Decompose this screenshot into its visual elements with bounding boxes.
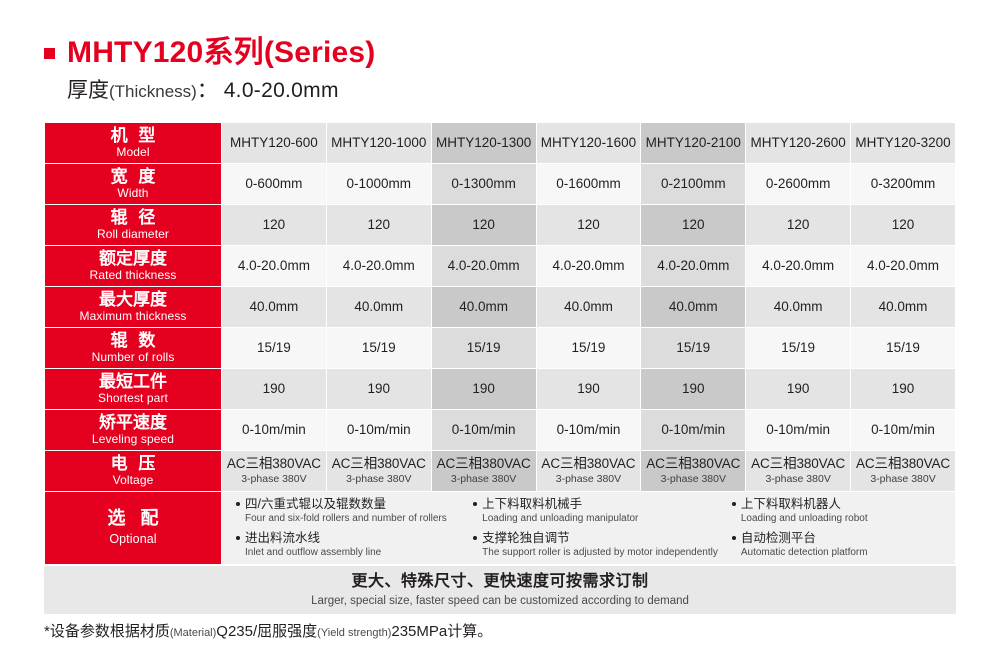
row-label-optional: 选 配 Optional xyxy=(45,492,221,564)
voltage-value-cn: AC三相380VAC xyxy=(746,456,850,473)
bullet-dot-icon xyxy=(236,536,240,540)
subtitle-label-cn: 厚度 xyxy=(67,79,109,102)
footnote: *设备参数根据材质(Material)Q235/屈服强度(Yield stren… xyxy=(44,622,492,642)
cell-rated-thickness-c1: 4.0-20.0mm xyxy=(327,246,431,286)
banner-text-en: Larger, special size, faster speed can b… xyxy=(311,595,689,609)
row-label-leveling-speed: 矫平速度 Leveling speed xyxy=(45,410,221,450)
cell-max-thickness-c0: 40.0mm xyxy=(222,287,326,327)
subtitle-label-en: (Thickness) xyxy=(109,82,197,101)
title-block: MHTY120系列(Series) 厚度(Thickness)： 4.0-20.… xyxy=(44,36,376,103)
cell-voltage-c2: AC三相380VAC 3-phase 380V xyxy=(432,451,536,491)
optional-item: 自动检测平台 Automatic detection platform xyxy=(732,531,955,559)
cell-number-of-rolls-c0: 15/19 xyxy=(222,328,326,368)
table-row: 机 型 Model MHTY120-600 MHTY120-1000 MHTY1… xyxy=(45,123,955,163)
subtitle-separator: ： xyxy=(197,79,218,102)
row-label-max-thickness: 最大厚度 Maximum thickness xyxy=(45,287,221,327)
cell-voltage-c6: AC三相380VAC 3-phase 380V xyxy=(851,451,955,491)
row-label-number-of-rolls: 辊 数 Number of rolls xyxy=(45,328,221,368)
row-label-cn: 电 压 xyxy=(45,455,221,473)
row-label-en: Model xyxy=(45,146,221,159)
optional-item-en: The support roller is adjusted by motor … xyxy=(482,547,718,560)
table-row: 最短工件 Shortest part 190 190 190 190 190 1… xyxy=(45,369,955,409)
cell-width-c0: 0-600mm xyxy=(222,164,326,204)
optional-item-en: Automatic detection platform xyxy=(741,547,955,560)
cell-leveling-speed-c3: 0-10m/min xyxy=(537,410,641,450)
table-row: 矫平速度 Leveling speed 0-10m/min 0-10m/min … xyxy=(45,410,955,450)
spec-sheet-page: MHTY120系列(Series) 厚度(Thickness)： 4.0-20.… xyxy=(0,0,1000,669)
footnote-part-2: Q235/屈服强度 xyxy=(216,623,317,640)
cell-leveling-speed-c6: 0-10m/min xyxy=(851,410,955,450)
row-label-cn: 选 配 xyxy=(45,509,221,528)
page-title: MHTY120系列(Series) xyxy=(67,36,376,69)
cell-roll-diameter-c6: 120 xyxy=(851,205,955,245)
cell-shortest-part-c6: 190 xyxy=(851,369,955,409)
optional-item: 四/六重式辊以及辊数数量 Four and six-fold rollers a… xyxy=(236,497,459,525)
row-label-cn: 辊 径 xyxy=(45,209,221,227)
row-label-en: Leveling speed xyxy=(45,433,221,446)
optional-item-en: Loading and unloading manipulator xyxy=(482,513,718,526)
optional-item-cn: 进出料流水线 xyxy=(236,531,459,547)
row-label-en: Roll diameter xyxy=(45,228,221,241)
optional-item-cn-text: 上下料取料机械手 xyxy=(482,497,582,511)
voltage-value-en: 3-phase 380V xyxy=(851,473,955,486)
table-row-optional: 选 配 Optional 四/六重式辊以及辊数数量 Four and six-f… xyxy=(45,492,955,564)
cell-roll-diameter-c1: 120 xyxy=(327,205,431,245)
row-label-rated-thickness: 额定厚度 Rated thickness xyxy=(45,246,221,286)
optional-item: 支撑轮独自调节 The support roller is adjusted b… xyxy=(473,531,718,559)
customization-banner: 更大、特殊尺寸、更快速度可按需求订制 Larger, special size,… xyxy=(44,566,956,614)
optional-group-3: 上下料取料机器人 Loading and unloading robot 自动检… xyxy=(718,497,955,559)
cell-shortest-part-c4: 190 xyxy=(641,369,745,409)
optional-group-1: 四/六重式辊以及辊数数量 Four and six-fold rollers a… xyxy=(222,497,459,559)
row-label-shortest-part: 最短工件 Shortest part xyxy=(45,369,221,409)
subtitle-value: 4.0-20.0mm xyxy=(224,79,339,102)
row-label-en: Number of rolls xyxy=(45,351,221,364)
square-bullet-icon xyxy=(44,48,55,59)
optional-group-2: 上下料取料机械手 Loading and unloading manipulat… xyxy=(459,497,718,559)
voltage-value-cn: AC三相380VAC xyxy=(537,456,641,473)
cell-model-c6: MHTY120-3200 xyxy=(851,123,955,163)
banner-text-cn: 更大、特殊尺寸、更快速度可按需求订制 xyxy=(351,572,648,592)
optional-item-cn-text: 四/六重式辊以及辊数数量 xyxy=(245,497,386,511)
cell-roll-diameter-c5: 120 xyxy=(746,205,850,245)
row-label-cn: 辊 数 xyxy=(45,332,221,350)
row-label-voltage: 电 压 Voltage xyxy=(45,451,221,491)
cell-roll-diameter-c3: 120 xyxy=(537,205,641,245)
cell-rated-thickness-c5: 4.0-20.0mm xyxy=(746,246,850,286)
voltage-value-cn: AC三相380VAC xyxy=(851,456,955,473)
cell-rated-thickness-c6: 4.0-20.0mm xyxy=(851,246,955,286)
optional-item-cn-text: 自动检测平台 xyxy=(741,531,816,545)
cell-number-of-rolls-c4: 15/19 xyxy=(641,328,745,368)
cell-leveling-speed-c5: 0-10m/min xyxy=(746,410,850,450)
optional-item-cn-text: 支撑轮独自调节 xyxy=(482,531,570,545)
cell-leveling-speed-c2: 0-10m/min xyxy=(432,410,536,450)
row-label-en: Rated thickness xyxy=(45,269,221,282)
footnote-part-1: *设备参数根据材质 xyxy=(44,623,170,640)
row-label-model: 机 型 Model xyxy=(45,123,221,163)
voltage-value-en: 3-phase 380V xyxy=(746,473,850,486)
table-body: 机 型 Model MHTY120-600 MHTY120-1000 MHTY1… xyxy=(45,123,955,564)
cell-model-c3: MHTY120-1600 xyxy=(537,123,641,163)
cell-rated-thickness-c2: 4.0-20.0mm xyxy=(432,246,536,286)
cell-leveling-speed-c4: 0-10m/min xyxy=(641,410,745,450)
footnote-part-3: 235MPa计算。 xyxy=(391,623,492,640)
cell-shortest-part-c1: 190 xyxy=(327,369,431,409)
optional-item-cn: 支撑轮独自调节 xyxy=(473,531,718,547)
cell-shortest-part-c5: 190 xyxy=(746,369,850,409)
cell-roll-diameter-c2: 120 xyxy=(432,205,536,245)
cell-width-c6: 0-3200mm xyxy=(851,164,955,204)
cell-model-c5: MHTY120-2600 xyxy=(746,123,850,163)
footnote-small-2: (Yield strength) xyxy=(317,627,391,639)
row-label-cn: 最大厚度 xyxy=(45,291,221,309)
cell-max-thickness-c5: 40.0mm xyxy=(746,287,850,327)
cell-voltage-c1: AC三相380VAC 3-phase 380V xyxy=(327,451,431,491)
cell-shortest-part-c3: 190 xyxy=(537,369,641,409)
cell-roll-diameter-c0: 120 xyxy=(222,205,326,245)
cell-rated-thickness-c4: 4.0-20.0mm xyxy=(641,246,745,286)
cell-width-c4: 0-2100mm xyxy=(641,164,745,204)
cell-voltage-c0: AC三相380VAC 3-phase 380V xyxy=(222,451,326,491)
row-label-cn: 机 型 xyxy=(45,127,221,145)
voltage-value-en: 3-phase 380V xyxy=(432,473,536,486)
row-label-en: Shortest part xyxy=(45,392,221,405)
voltage-value-en: 3-phase 380V xyxy=(327,473,431,486)
cell-leveling-speed-c0: 0-10m/min xyxy=(222,410,326,450)
table-row: 辊 径 Roll diameter 120 120 120 120 120 12… xyxy=(45,205,955,245)
voltage-value-en: 3-phase 380V xyxy=(537,473,641,486)
cell-max-thickness-c4: 40.0mm xyxy=(641,287,745,327)
optional-item-en: Loading and unloading robot xyxy=(741,513,955,526)
cell-width-c2: 0-1300mm xyxy=(432,164,536,204)
cell-model-c1: MHTY120-1000 xyxy=(327,123,431,163)
row-label-roll-diameter: 辊 径 Roll diameter xyxy=(45,205,221,245)
optional-item-cn-text: 上下料取料机器人 xyxy=(741,497,841,511)
voltage-value-en: 3-phase 380V xyxy=(641,473,745,486)
title-row: MHTY120系列(Series) xyxy=(44,36,376,69)
optional-item-en: Inlet and outflow assembly line xyxy=(245,547,459,560)
cell-rated-thickness-c3: 4.0-20.0mm xyxy=(537,246,641,286)
cell-model-c4: MHTY120-2100 xyxy=(641,123,745,163)
table-row: 额定厚度 Rated thickness 4.0-20.0mm 4.0-20.0… xyxy=(45,246,955,286)
cell-leveling-speed-c1: 0-10m/min xyxy=(327,410,431,450)
row-label-en: Maximum thickness xyxy=(45,310,221,323)
table-row: 电 压 Voltage AC三相380VAC 3-phase 380V AC三相… xyxy=(45,451,955,491)
cell-shortest-part-c0: 190 xyxy=(222,369,326,409)
row-label-cn: 矫平速度 xyxy=(45,414,221,432)
cell-model-c0: MHTY120-600 xyxy=(222,123,326,163)
row-label-en: Voltage xyxy=(45,474,221,487)
row-label-en: Width xyxy=(45,187,221,200)
specification-table: 机 型 Model MHTY120-600 MHTY120-1000 MHTY1… xyxy=(44,122,956,565)
cell-width-c3: 0-1600mm xyxy=(537,164,641,204)
row-label-cn: 宽 度 xyxy=(45,168,221,186)
table-row: 宽 度 Width 0-600mm 0-1000mm 0-1300mm 0-16… xyxy=(45,164,955,204)
bullet-dot-icon xyxy=(732,502,736,506)
bullet-dot-icon xyxy=(236,502,240,506)
cell-number-of-rolls-c1: 15/19 xyxy=(327,328,431,368)
subtitle-thickness: 厚度(Thickness)： 4.0-20.0mm xyxy=(67,78,376,103)
voltage-value-cn: AC三相380VAC xyxy=(641,456,745,473)
optional-item: 上下料取料机械手 Loading and unloading manipulat… xyxy=(473,497,718,525)
cell-number-of-rolls-c6: 15/19 xyxy=(851,328,955,368)
optional-item: 上下料取料机器人 Loading and unloading robot xyxy=(732,497,955,525)
footnote-small-1: (Material) xyxy=(170,627,216,639)
cell-roll-diameter-c4: 120 xyxy=(641,205,745,245)
row-label-cn: 最短工件 xyxy=(45,373,221,391)
cell-max-thickness-c1: 40.0mm xyxy=(327,287,431,327)
cell-voltage-c5: AC三相380VAC 3-phase 380V xyxy=(746,451,850,491)
optional-content-cell: 四/六重式辊以及辊数数量 Four and six-fold rollers a… xyxy=(222,492,955,564)
row-label-cn: 额定厚度 xyxy=(45,250,221,268)
cell-rated-thickness-c0: 4.0-20.0mm xyxy=(222,246,326,286)
cell-max-thickness-c2: 40.0mm xyxy=(432,287,536,327)
bullet-dot-icon xyxy=(473,502,477,506)
row-label-width: 宽 度 Width xyxy=(45,164,221,204)
cell-number-of-rolls-c3: 15/19 xyxy=(537,328,641,368)
table-row: 辊 数 Number of rolls 15/19 15/19 15/19 15… xyxy=(45,328,955,368)
row-label-en: Optional xyxy=(45,533,221,547)
voltage-value-cn: AC三相380VAC xyxy=(432,456,536,473)
optional-item-cn: 上下料取料机械手 xyxy=(473,497,718,513)
cell-shortest-part-c2: 190 xyxy=(432,369,536,409)
cell-voltage-c4: AC三相380VAC 3-phase 380V xyxy=(641,451,745,491)
optional-item-cn-text: 进出料流水线 xyxy=(245,531,320,545)
voltage-value-cn: AC三相380VAC xyxy=(222,456,326,473)
voltage-value-cn: AC三相380VAC xyxy=(327,456,431,473)
optional-item-cn: 上下料取料机器人 xyxy=(732,497,955,513)
optional-item-cn: 自动检测平台 xyxy=(732,531,955,547)
voltage-value-en: 3-phase 380V xyxy=(222,473,326,486)
table-row: 最大厚度 Maximum thickness 40.0mm 40.0mm 40.… xyxy=(45,287,955,327)
optional-item-en: Four and six-fold rollers and number of … xyxy=(245,513,459,526)
cell-number-of-rolls-c2: 15/19 xyxy=(432,328,536,368)
optional-item-cn: 四/六重式辊以及辊数数量 xyxy=(236,497,459,513)
bullet-dot-icon xyxy=(473,536,477,540)
cell-width-c5: 0-2600mm xyxy=(746,164,850,204)
cell-model-c2: MHTY120-1300 xyxy=(432,123,536,163)
cell-max-thickness-c6: 40.0mm xyxy=(851,287,955,327)
cell-width-c1: 0-1000mm xyxy=(327,164,431,204)
bullet-dot-icon xyxy=(732,536,736,540)
cell-max-thickness-c3: 40.0mm xyxy=(537,287,641,327)
cell-number-of-rolls-c5: 15/19 xyxy=(746,328,850,368)
cell-voltage-c3: AC三相380VAC 3-phase 380V xyxy=(537,451,641,491)
optional-groups: 四/六重式辊以及辊数数量 Four and six-fold rollers a… xyxy=(222,497,955,559)
optional-item: 进出料流水线 Inlet and outflow assembly line xyxy=(236,531,459,559)
